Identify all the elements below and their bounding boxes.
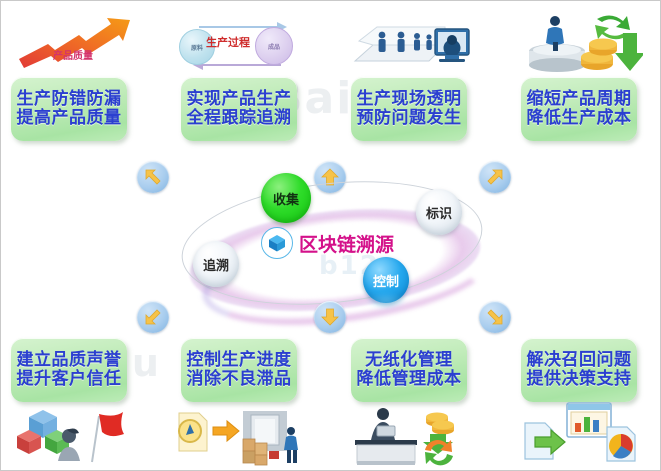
process-node-right: 成品 (255, 27, 293, 65)
arrow-down-left-icon[interactable] (137, 301, 169, 333)
process-label: 生产过程 (206, 34, 250, 50)
workshop-monitor-icon (349, 15, 473, 73)
benefit-box-top-4[interactable]: 缩短产品周期 降低生产成本 (521, 77, 637, 141)
node-trace-label: 追溯 (203, 255, 229, 274)
benefit-box-top-3[interactable]: 生产现场透明 预防问题发生 (351, 77, 467, 141)
arrow-down-right-icon[interactable] (479, 301, 511, 333)
coins-recycle-icon (519, 9, 643, 75)
node-control-label: 控制 (373, 271, 399, 290)
benefit-line-2: 提高产品质量 (17, 109, 122, 128)
quality-chart-label: 产品质量 (53, 47, 93, 62)
quality-badge-icon (13, 406, 133, 466)
benefit-line-2: 消除不良滞品 (187, 370, 292, 389)
rising-arrow-icon (15, 15, 135, 73)
arrow-up-left-icon[interactable] (137, 161, 169, 193)
blockchain-traceability-diagram: 收集 标识 控制 追溯 区块链溯源 (171, 169, 491, 319)
benefit-line-1: 无纸化管理 (365, 351, 453, 370)
benefit-line-1: 控制生产进度 (187, 351, 292, 370)
node-control-reflection (367, 293, 405, 309)
benefit-line-1: 生产防错防漏 (17, 90, 122, 109)
benefit-box-bottom-4[interactable]: 解决召回问题 提供决策支持 (521, 338, 637, 402)
brand-title: 区块链溯源 (299, 230, 394, 257)
benefit-line-2: 提供决策支持 (527, 370, 632, 389)
benefit-line-2: 降低生产成本 (527, 109, 632, 128)
benefit-box-bottom-3[interactable]: 无纸化管理 降低管理成本 (351, 338, 467, 402)
node-collect-label: 收集 (273, 189, 299, 208)
benefit-line-1: 缩短产品周期 (527, 90, 632, 109)
blue-cube-icon (261, 227, 293, 259)
benefit-box-bottom-1[interactable]: 建立品质声誉 提升客户信任 (11, 338, 127, 402)
benefit-box-bottom-2[interactable]: 控制生产进度 消除不良滞品 (181, 338, 297, 402)
benefit-box-top-2[interactable]: 实现产品生产 全程跟踪追溯 (181, 77, 297, 141)
brand-logo: 区块链溯源 (261, 227, 394, 259)
benefit-line-2: 提升客户信任 (17, 370, 122, 389)
benefit-line-1: 实现产品生产 (187, 90, 292, 109)
node-identify[interactable]: 标识 (416, 189, 462, 235)
benefit-line-1: 解决召回问题 (527, 351, 632, 370)
benefit-line-2: 预防问题发生 (357, 109, 462, 128)
node-collect[interactable]: 收集 (261, 173, 311, 223)
node-identify-label: 标识 (426, 203, 452, 222)
arrow-down-icon[interactable] (314, 301, 346, 333)
benefit-line-1: 建立品质声誉 (17, 351, 122, 370)
benefit-line-2: 全程跟踪追溯 (187, 109, 292, 128)
benefit-line-2: 降低管理成本 (357, 370, 462, 389)
benefit-line-1: 生产现场透明 (357, 90, 462, 109)
report-chart-icon (521, 401, 647, 465)
infographic-canvas: Baidu Baidu b12 产品质量 原料 成品 生产过程 (0, 0, 661, 471)
node-trace[interactable]: 追溯 (193, 241, 239, 287)
benefit-box-top-1[interactable]: 生产防错防漏 提高产品质量 (11, 77, 127, 141)
office-savings-icon (347, 406, 473, 468)
warehouse-clock-icon (177, 409, 303, 467)
